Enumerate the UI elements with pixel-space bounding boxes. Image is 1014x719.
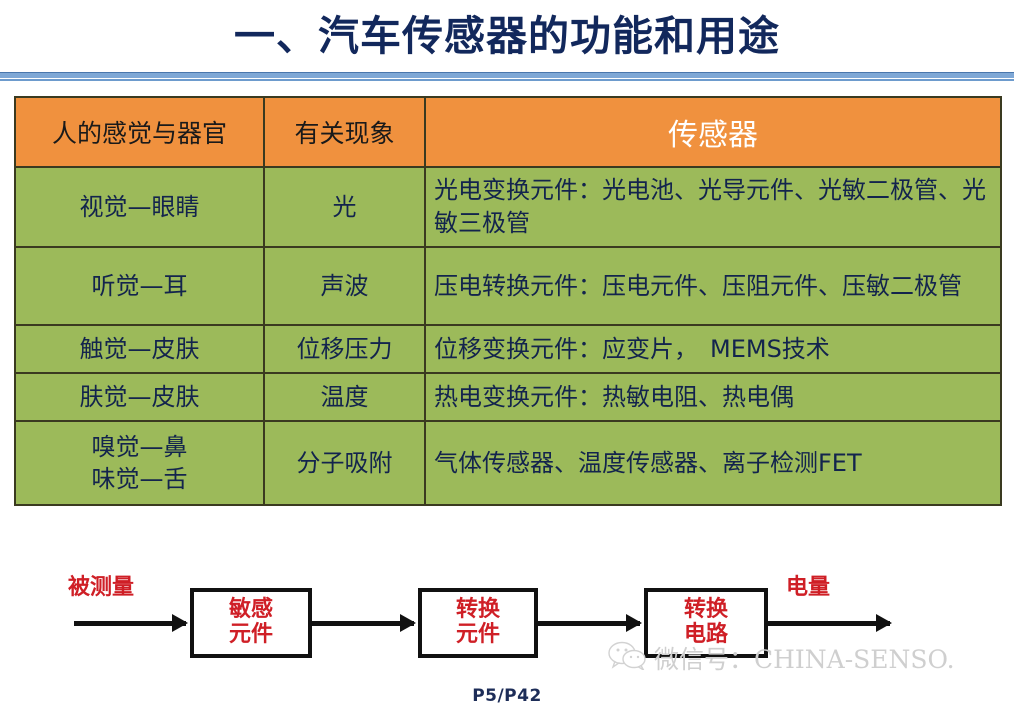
table-row: 触觉—皮肤 位移压力 位移变换元件：应变片， MEMS技术 xyxy=(15,325,1001,373)
diagram-output-label: 电量 xyxy=(786,569,830,601)
block-sensing-element: 敏感元件 xyxy=(190,588,312,658)
cell-sense: 肤觉—皮肤 xyxy=(15,373,264,421)
table-row: 听觉—耳 声波 压电转换元件：压电元件、压阻元件、压敏二极管 xyxy=(15,247,1001,325)
block-converting-circuit: 转换电路 xyxy=(644,588,768,658)
arrow-circuit-to-output xyxy=(768,621,890,626)
divider-thick-rule xyxy=(0,72,1014,78)
arrow-input-to-sensing-element xyxy=(74,621,186,626)
cell-sensor: 压电转换元件：压电元件、压阻元件、压敏二极管 xyxy=(425,247,1001,325)
arrow-converting-element-to-circuit xyxy=(538,621,640,626)
cell-phenomenon: 光 xyxy=(264,167,425,247)
sensor-mapping-table: 人的感觉与器官 有关现象 传感器 视觉—眼睛 光 光电变换元件：光电池、光导元件… xyxy=(14,96,1002,506)
cell-sensor: 热电变换元件：热敏电阻、热电偶 xyxy=(425,373,1001,421)
block-converting-element: 转换元件 xyxy=(418,588,538,658)
cell-sensor: 气体传感器、温度传感器、离子检测FET xyxy=(425,421,1001,505)
cell-sensor: 位移变换元件：应变片， MEMS技术 xyxy=(425,325,1001,373)
diagram-input-label: 被测量 xyxy=(68,569,134,601)
column-header-phenomenon: 有关现象 xyxy=(264,97,425,167)
title-divider xyxy=(0,72,1014,81)
cell-sense: 嗅觉—鼻味觉—舌 xyxy=(15,421,264,505)
column-header-sensor: 传感器 xyxy=(425,97,1001,167)
table-header-row: 人的感觉与器官 有关现象 传感器 xyxy=(15,97,1001,167)
cell-phenomenon: 位移压力 xyxy=(264,325,425,373)
cell-sense: 视觉—眼睛 xyxy=(15,167,264,247)
cell-phenomenon: 温度 xyxy=(264,373,425,421)
sensor-block-diagram: 被测量 电量 敏感元件 转换元件 转换电路 xyxy=(0,555,1014,675)
table-row: 嗅觉—鼻味觉—舌 分子吸附 气体传感器、温度传感器、离子检测FET xyxy=(15,421,1001,505)
divider-thin-rule xyxy=(0,79,1014,81)
table-row: 视觉—眼睛 光 光电变换元件：光电池、光导元件、光敏二极管、光敏三极管 xyxy=(15,167,1001,247)
cell-phenomenon: 声波 xyxy=(264,247,425,325)
cell-sensor: 光电变换元件：光电池、光导元件、光敏二极管、光敏三极管 xyxy=(425,167,1001,247)
column-header-sense: 人的感觉与器官 xyxy=(15,97,264,167)
arrow-sensing-to-converting-element xyxy=(312,621,414,626)
cell-phenomenon: 分子吸附 xyxy=(264,421,425,505)
cell-sense: 听觉—耳 xyxy=(15,247,264,325)
page-title: 一、汽车传感器的功能和用途 xyxy=(0,6,1014,66)
page-marker: P5/P42 xyxy=(0,686,1014,706)
cell-sense: 触觉—皮肤 xyxy=(15,325,264,373)
table-row: 肤觉—皮肤 温度 热电变换元件：热敏电阻、热电偶 xyxy=(15,373,1001,421)
